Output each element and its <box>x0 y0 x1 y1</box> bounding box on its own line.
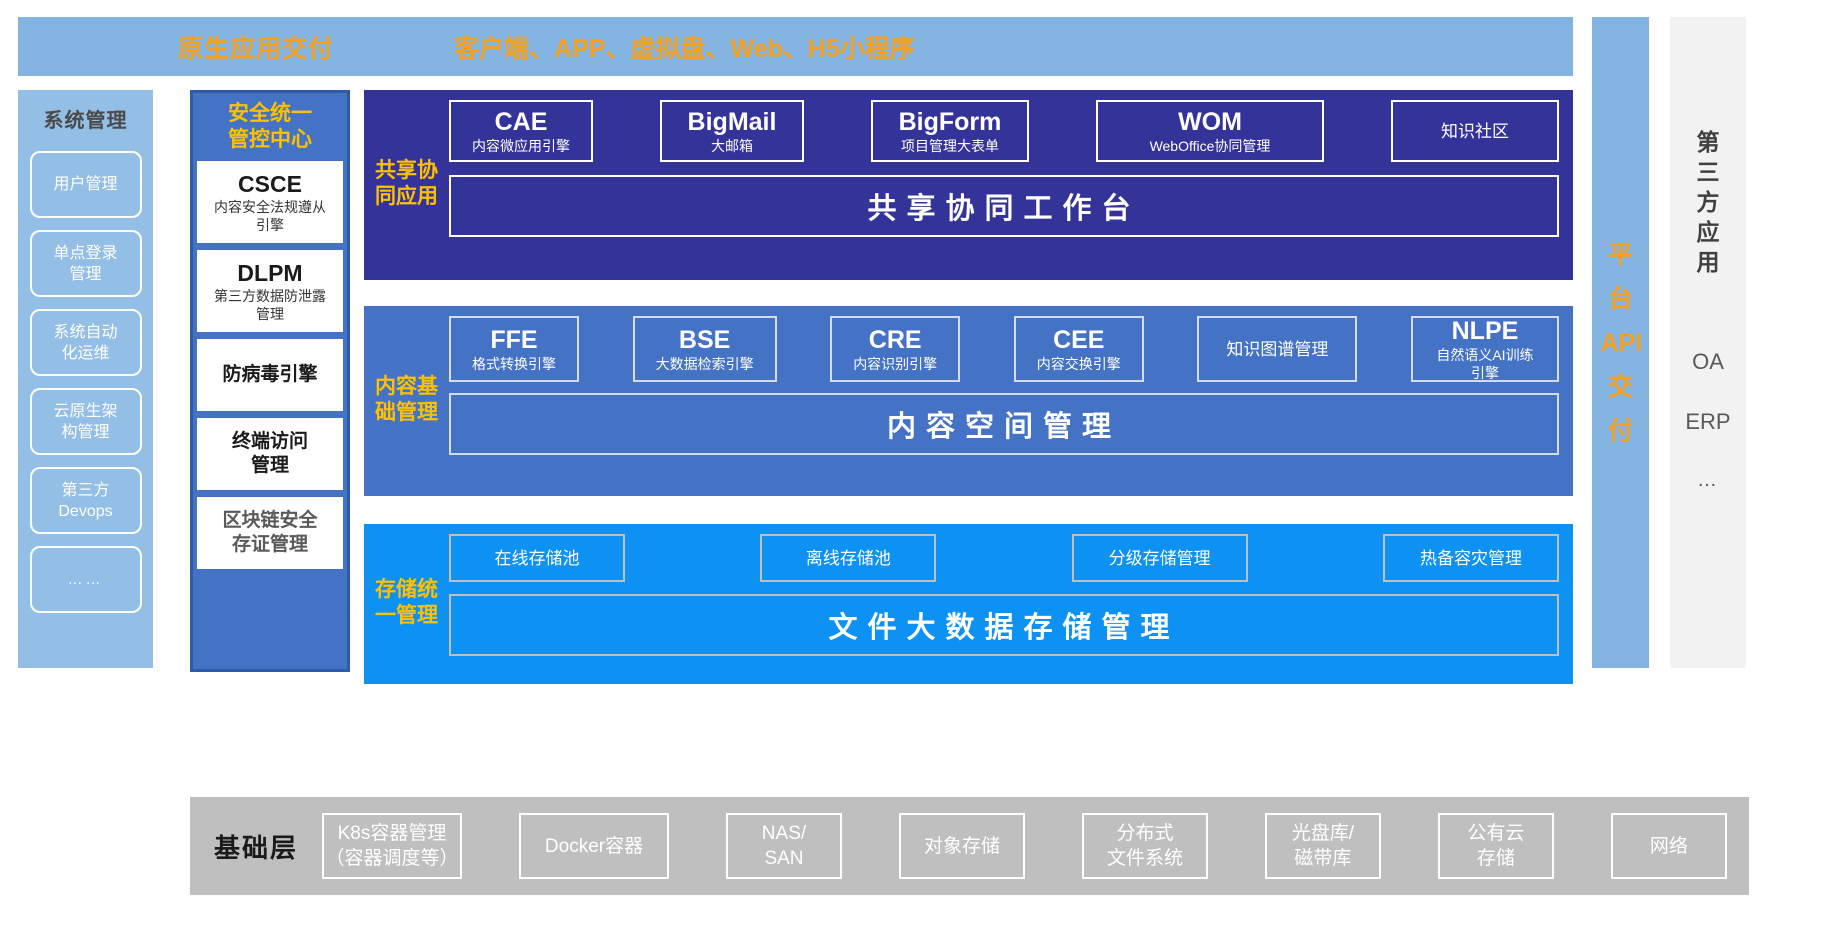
storage-chip-0[interactable]: 在线存储池 <box>449 534 625 582</box>
system-management-item-0[interactable]: 用户管理 <box>30 151 142 218</box>
security-item-2[interactable]: 防病毒引擎 <box>197 339 343 411</box>
content-space-management-bar: 内容空间管理 <box>449 393 1559 455</box>
infrastructure-item-7[interactable]: 网络 <box>1611 813 1727 879</box>
infrastructure-title: 基础层 <box>214 828 298 865</box>
content-chip-desc: 格式转换引擎 <box>472 355 556 373</box>
storage-layer-label: 存储统一管理 <box>364 534 449 672</box>
content-chip-0[interactable]: FFE格式转换引擎 <box>449 316 579 382</box>
infrastructure-item-label: NAS/SAN <box>762 821 806 871</box>
system-management-item-label: 系统自动化运维 <box>53 322 117 364</box>
storage-chip-3[interactable]: 热备容灾管理 <box>1383 534 1559 582</box>
share-chip-desc: 内容微应用引擎 <box>472 137 570 155</box>
native-app-delivery-label: 原生应用交付 <box>178 29 334 65</box>
infrastructure-layer: 基础层 K8s容器管理（容器调度等）Docker容器NAS/SAN对象存储分布式… <box>190 797 1749 895</box>
content-chip-1[interactable]: BSE大数据检索引擎 <box>633 316 777 382</box>
share-chip-code: BigMail <box>688 108 777 137</box>
storage-unified-management-layer: 存储统一管理 在线存储池离线存储池分级存储管理热备容灾管理 文件大数据存储管理 <box>364 510 1573 670</box>
content-foundation-layer: 内容基础管理 FFE格式转换引擎BSE大数据检索引擎CRE内容识别引擎CEE内容… <box>364 306 1573 496</box>
content-chip-desc: 内容识别引擎 <box>853 355 937 373</box>
share-chip-code: BigForm <box>899 108 1002 137</box>
system-management-item-label: 第三方Devops <box>58 480 112 522</box>
share-chip-desc: 大邮箱 <box>711 137 753 155</box>
system-management-item-1[interactable]: 单点登录管理 <box>30 230 142 297</box>
third-party-item-1: ERP <box>1685 409 1730 435</box>
security-center-title: 安全统一管控中心 <box>228 101 312 153</box>
storage-chip-label: 离线存储池 <box>806 548 891 569</box>
share-chip-0[interactable]: CAE内容微应用引擎 <box>449 100 593 162</box>
system-management-item-3[interactable]: 云原生架构管理 <box>30 388 142 455</box>
content-chip-code: CEE <box>1053 326 1104 355</box>
security-item-1[interactable]: DLPM第三方数据防泄露管理 <box>197 250 343 332</box>
security-item-label: 区块链安全存证管理 <box>222 509 317 557</box>
storage-chip-1[interactable]: 离线存储池 <box>760 534 936 582</box>
shared-collaboration-workbench-bar: 共享协同工作台 <box>449 175 1559 237</box>
shared-collaboration-layer-label: 共享协同应用 <box>364 100 449 268</box>
system-management-title: 系统管理 <box>44 104 128 133</box>
infrastructure-item-4[interactable]: 分布式文件系统 <box>1082 813 1208 879</box>
security-item-desc: 内容安全法规遵从引擎 <box>214 198 326 234</box>
architecture-diagram: 原生应用交付 客户端、APP、虚拟盘、Web、H5小程序 系统管理 用户管理单点… <box>0 0 1823 928</box>
infrastructure-item-2[interactable]: NAS/SAN <box>726 813 842 879</box>
shared-collaboration-chip-row: CAE内容微应用引擎BigMail大邮箱BigForm项目管理大表单WOMWeb… <box>449 100 1559 162</box>
security-center-item-list: CSCE内容安全法规遵从引擎DLPM第三方数据防泄露管理防病毒引擎终端访问管理区… <box>197 161 343 576</box>
share-chip-desc: WebOffice协同管理 <box>1150 137 1271 155</box>
share-chip-code: WOM <box>1178 108 1242 137</box>
infrastructure-item-label: Docker容器 <box>545 834 643 859</box>
content-chip-code: BSE <box>679 326 730 355</box>
content-foundation-chip-row: FFE格式转换引擎BSE大数据检索引擎CRE内容识别引擎CEE内容交换引擎知识图… <box>449 316 1559 382</box>
security-item-code: CSCE <box>238 171 302 198</box>
storage-chip-label: 在线存储池 <box>495 548 580 569</box>
security-control-center-column: 安全统一管控中心 CSCE内容安全法规遵从引擎DLPM第三方数据防泄露管理防病毒… <box>190 90 350 672</box>
share-chip-desc: 项目管理大表单 <box>901 137 999 155</box>
infrastructure-item-label: 分布式文件系统 <box>1107 821 1183 871</box>
content-chip-label: 知识图谱管理 <box>1226 339 1328 360</box>
security-item-label: 终端访问管理 <box>232 430 308 478</box>
content-chip-2[interactable]: CRE内容识别引擎 <box>830 316 960 382</box>
system-management-item-label: 用户管理 <box>53 174 117 195</box>
third-party-item-2: … <box>1697 469 1719 492</box>
storage-layer-inner: 存储统一管理 在线存储池离线存储池分级存储管理热备容灾管理 文件大数据存储管理 <box>364 524 1573 684</box>
share-chip-1[interactable]: BigMail大邮箱 <box>660 100 804 162</box>
system-management-item-label: …… <box>68 569 104 590</box>
security-item-0[interactable]: CSCE内容安全法规遵从引擎 <box>197 161 343 243</box>
infrastructure-item-label: 网络 <box>1650 834 1688 859</box>
storage-chip-row: 在线存储池离线存储池分级存储管理热备容灾管理 <box>449 534 1559 582</box>
system-management-column: 系统管理 用户管理单点登录管理系统自动化运维云原生架构管理第三方Devops…… <box>18 90 153 668</box>
security-item-label: 防病毒引擎 <box>222 363 317 387</box>
infrastructure-item-1[interactable]: Docker容器 <box>519 813 669 879</box>
delivery-channels-label: 客户端、APP、虚拟盘、Web、H5小程序 <box>454 29 915 65</box>
share-chip-code: CAE <box>495 108 548 137</box>
content-foundation-layer-label: 内容基础管理 <box>364 316 449 484</box>
infrastructure-item-label: 对象存储 <box>924 834 1000 859</box>
content-chip-4[interactable]: 知识图谱管理 <box>1197 316 1357 382</box>
infrastructure-item-5[interactable]: 光盘库/磁带库 <box>1265 813 1381 879</box>
content-chip-code: NLPE <box>1452 317 1519 346</box>
content-chip-desc: 内容交换引擎 <box>1037 355 1121 373</box>
file-bigdata-storage-bar: 文件大数据存储管理 <box>449 594 1559 656</box>
system-management-item-2[interactable]: 系统自动化运维 <box>30 309 142 376</box>
share-chip-label: 知识社区 <box>1441 121 1509 142</box>
share-chip-2[interactable]: BigForm项目管理大表单 <box>871 100 1029 162</box>
content-chip-3[interactable]: CEE内容交换引擎 <box>1014 316 1144 382</box>
content-chip-desc: 自然语义AI训练引擎 <box>1436 346 1533 382</box>
storage-chip-label: 热备容灾管理 <box>1420 548 1522 569</box>
content-chip-code: FFE <box>490 326 537 355</box>
security-item-3[interactable]: 终端访问管理 <box>197 418 343 490</box>
security-item-4[interactable]: 区块链安全存证管理 <box>197 497 343 569</box>
content-chip-code: CRE <box>869 326 922 355</box>
infrastructure-item-label: 公有云存储 <box>1467 821 1524 871</box>
content-chip-desc: 大数据检索引擎 <box>656 355 754 373</box>
security-item-code: DLPM <box>237 260 302 287</box>
platform-api-delivery-column: 平台API交付 <box>1592 17 1649 668</box>
top-delivery-banner: 原生应用交付 客户端、APP、虚拟盘、Web、H5小程序 <box>18 17 1573 76</box>
system-management-item-label: 单点登录管理 <box>53 243 117 285</box>
system-management-item-4[interactable]: 第三方Devops <box>30 467 142 534</box>
security-item-desc: 第三方数据防泄露管理 <box>214 287 326 323</box>
infrastructure-item-label: K8s容器管理（容器调度等） <box>326 821 459 871</box>
third-party-application-column: 第三方应用 OAERP… <box>1670 17 1746 668</box>
infrastructure-item-0[interactable]: K8s容器管理（容器调度等） <box>322 813 462 879</box>
share-chip-4[interactable]: 知识社区 <box>1391 100 1559 162</box>
share-chip-3[interactable]: WOMWebOffice协同管理 <box>1096 100 1324 162</box>
third-party-item-list: OAERP… <box>1670 277 1746 492</box>
third-party-item-0: OA <box>1692 349 1724 375</box>
storage-chip-label: 分级存储管理 <box>1109 548 1211 569</box>
third-party-title: 第三方应用 <box>1693 127 1723 277</box>
system-management-item-5[interactable]: …… <box>30 546 142 613</box>
infrastructure-chip-row: K8s容器管理（容器调度等）Docker容器NAS/SAN对象存储分布式文件系统… <box>322 813 1749 879</box>
storage-chip-2[interactable]: 分级存储管理 <box>1072 534 1248 582</box>
infrastructure-item-6[interactable]: 公有云存储 <box>1438 813 1554 879</box>
system-management-item-label: 云原生架构管理 <box>53 401 117 443</box>
content-chip-5[interactable]: NLPE自然语义AI训练引擎 <box>1411 316 1559 382</box>
infrastructure-item-label: 光盘库/磁带库 <box>1292 821 1354 871</box>
infrastructure-item-3[interactable]: 对象存储 <box>899 813 1025 879</box>
shared-collaboration-layer: 共享协同应用 CAE内容微应用引擎BigMail大邮箱BigForm项目管理大表… <box>364 90 1573 280</box>
platform-api-delivery-label: 平台API交付 <box>1601 233 1641 453</box>
system-management-item-list: 用户管理单点登录管理系统自动化运维云原生架构管理第三方Devops…… <box>30 151 142 625</box>
